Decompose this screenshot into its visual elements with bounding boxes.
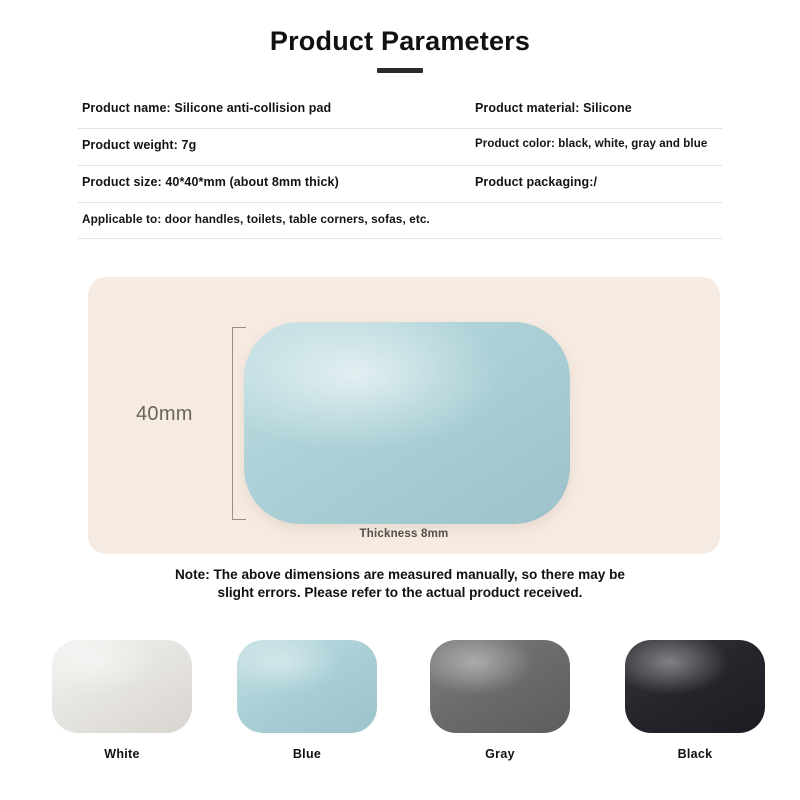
- spec-table: Product name: Silicone anti-collision pa…: [78, 92, 722, 239]
- measurement-note: Note: The above dimensions are measured …: [90, 566, 710, 603]
- color-chip-blue: [237, 640, 377, 733]
- spec-cell-applicable-to: Applicable to: door handles, toilets, ta…: [82, 212, 722, 226]
- table-row: Product weight: 7g Product color: black,…: [78, 129, 722, 166]
- color-chip-black: [625, 640, 765, 733]
- color-chip-gray: [430, 640, 570, 733]
- spec-cell-product-weight: Product weight: 7g: [82, 138, 462, 153]
- height-dimension-label: 40mm: [136, 403, 193, 426]
- measurement-note-line-1: Note: The above dimensions are measured …: [90, 566, 710, 584]
- color-label-white: White: [42, 747, 202, 761]
- color-swatch-blue[interactable]: Blue: [227, 640, 387, 761]
- color-label-black: Black: [615, 747, 775, 761]
- color-swatch-white[interactable]: White: [42, 640, 202, 761]
- color-label-gray: Gray: [420, 747, 580, 761]
- spec-cell-product-material: Product material: Silicone: [475, 101, 727, 116]
- color-swatch-row: White Blue Gray Black: [0, 640, 800, 780]
- spec-cell-product-color: Product color: black, white, gray and bl…: [475, 137, 727, 151]
- spec-cell-product-name: Product name: Silicone anti-collision pa…: [82, 101, 462, 116]
- table-row: Product name: Silicone anti-collision pa…: [78, 92, 722, 129]
- color-swatch-gray[interactable]: Gray: [420, 640, 580, 761]
- product-pad-illustration: [244, 322, 570, 524]
- spec-cell-product-size: Product size: 40*40*mm (about 8mm thick): [82, 175, 462, 190]
- color-chip-white: [52, 640, 192, 733]
- measurement-note-line-2: slight errors. Please refer to the actua…: [90, 584, 710, 602]
- spec-cell-product-packaging: Product packaging:/: [475, 175, 727, 190]
- color-label-blue: Blue: [227, 747, 387, 761]
- title-divider: [377, 68, 423, 73]
- table-row: Product size: 40*40*mm (about 8mm thick)…: [78, 166, 722, 203]
- page-title: Product Parameters: [0, 26, 800, 57]
- color-swatch-black[interactable]: Black: [615, 640, 775, 761]
- table-row: Applicable to: door handles, toilets, ta…: [78, 203, 722, 239]
